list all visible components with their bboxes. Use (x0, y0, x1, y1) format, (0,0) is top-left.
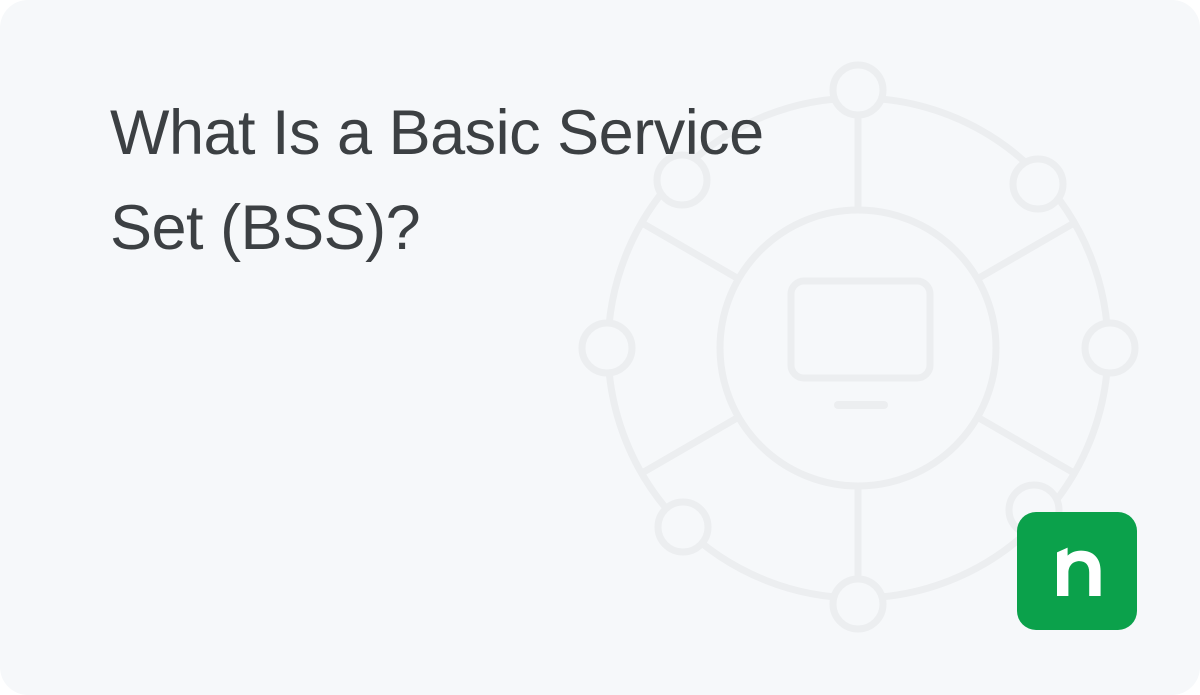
spoke-lower-right (858, 348, 1074, 473)
node-right (1085, 323, 1135, 373)
spoke-lower-left (642, 348, 858, 473)
page-title: What Is a Basic Service Set (BSS)? (110, 86, 940, 276)
monitor-icon (791, 281, 930, 405)
monitor-screen (791, 281, 930, 378)
node-bottom (833, 579, 883, 629)
node-upper-right (1013, 159, 1063, 209)
ninjaone-n-glyph (1045, 538, 1109, 604)
node-lower-left (658, 502, 708, 552)
hero-card: What Is a Basic Service Set (BSS)? (0, 0, 1200, 695)
ninjaone-logo[interactable] (1017, 512, 1137, 630)
node-left (582, 323, 632, 373)
